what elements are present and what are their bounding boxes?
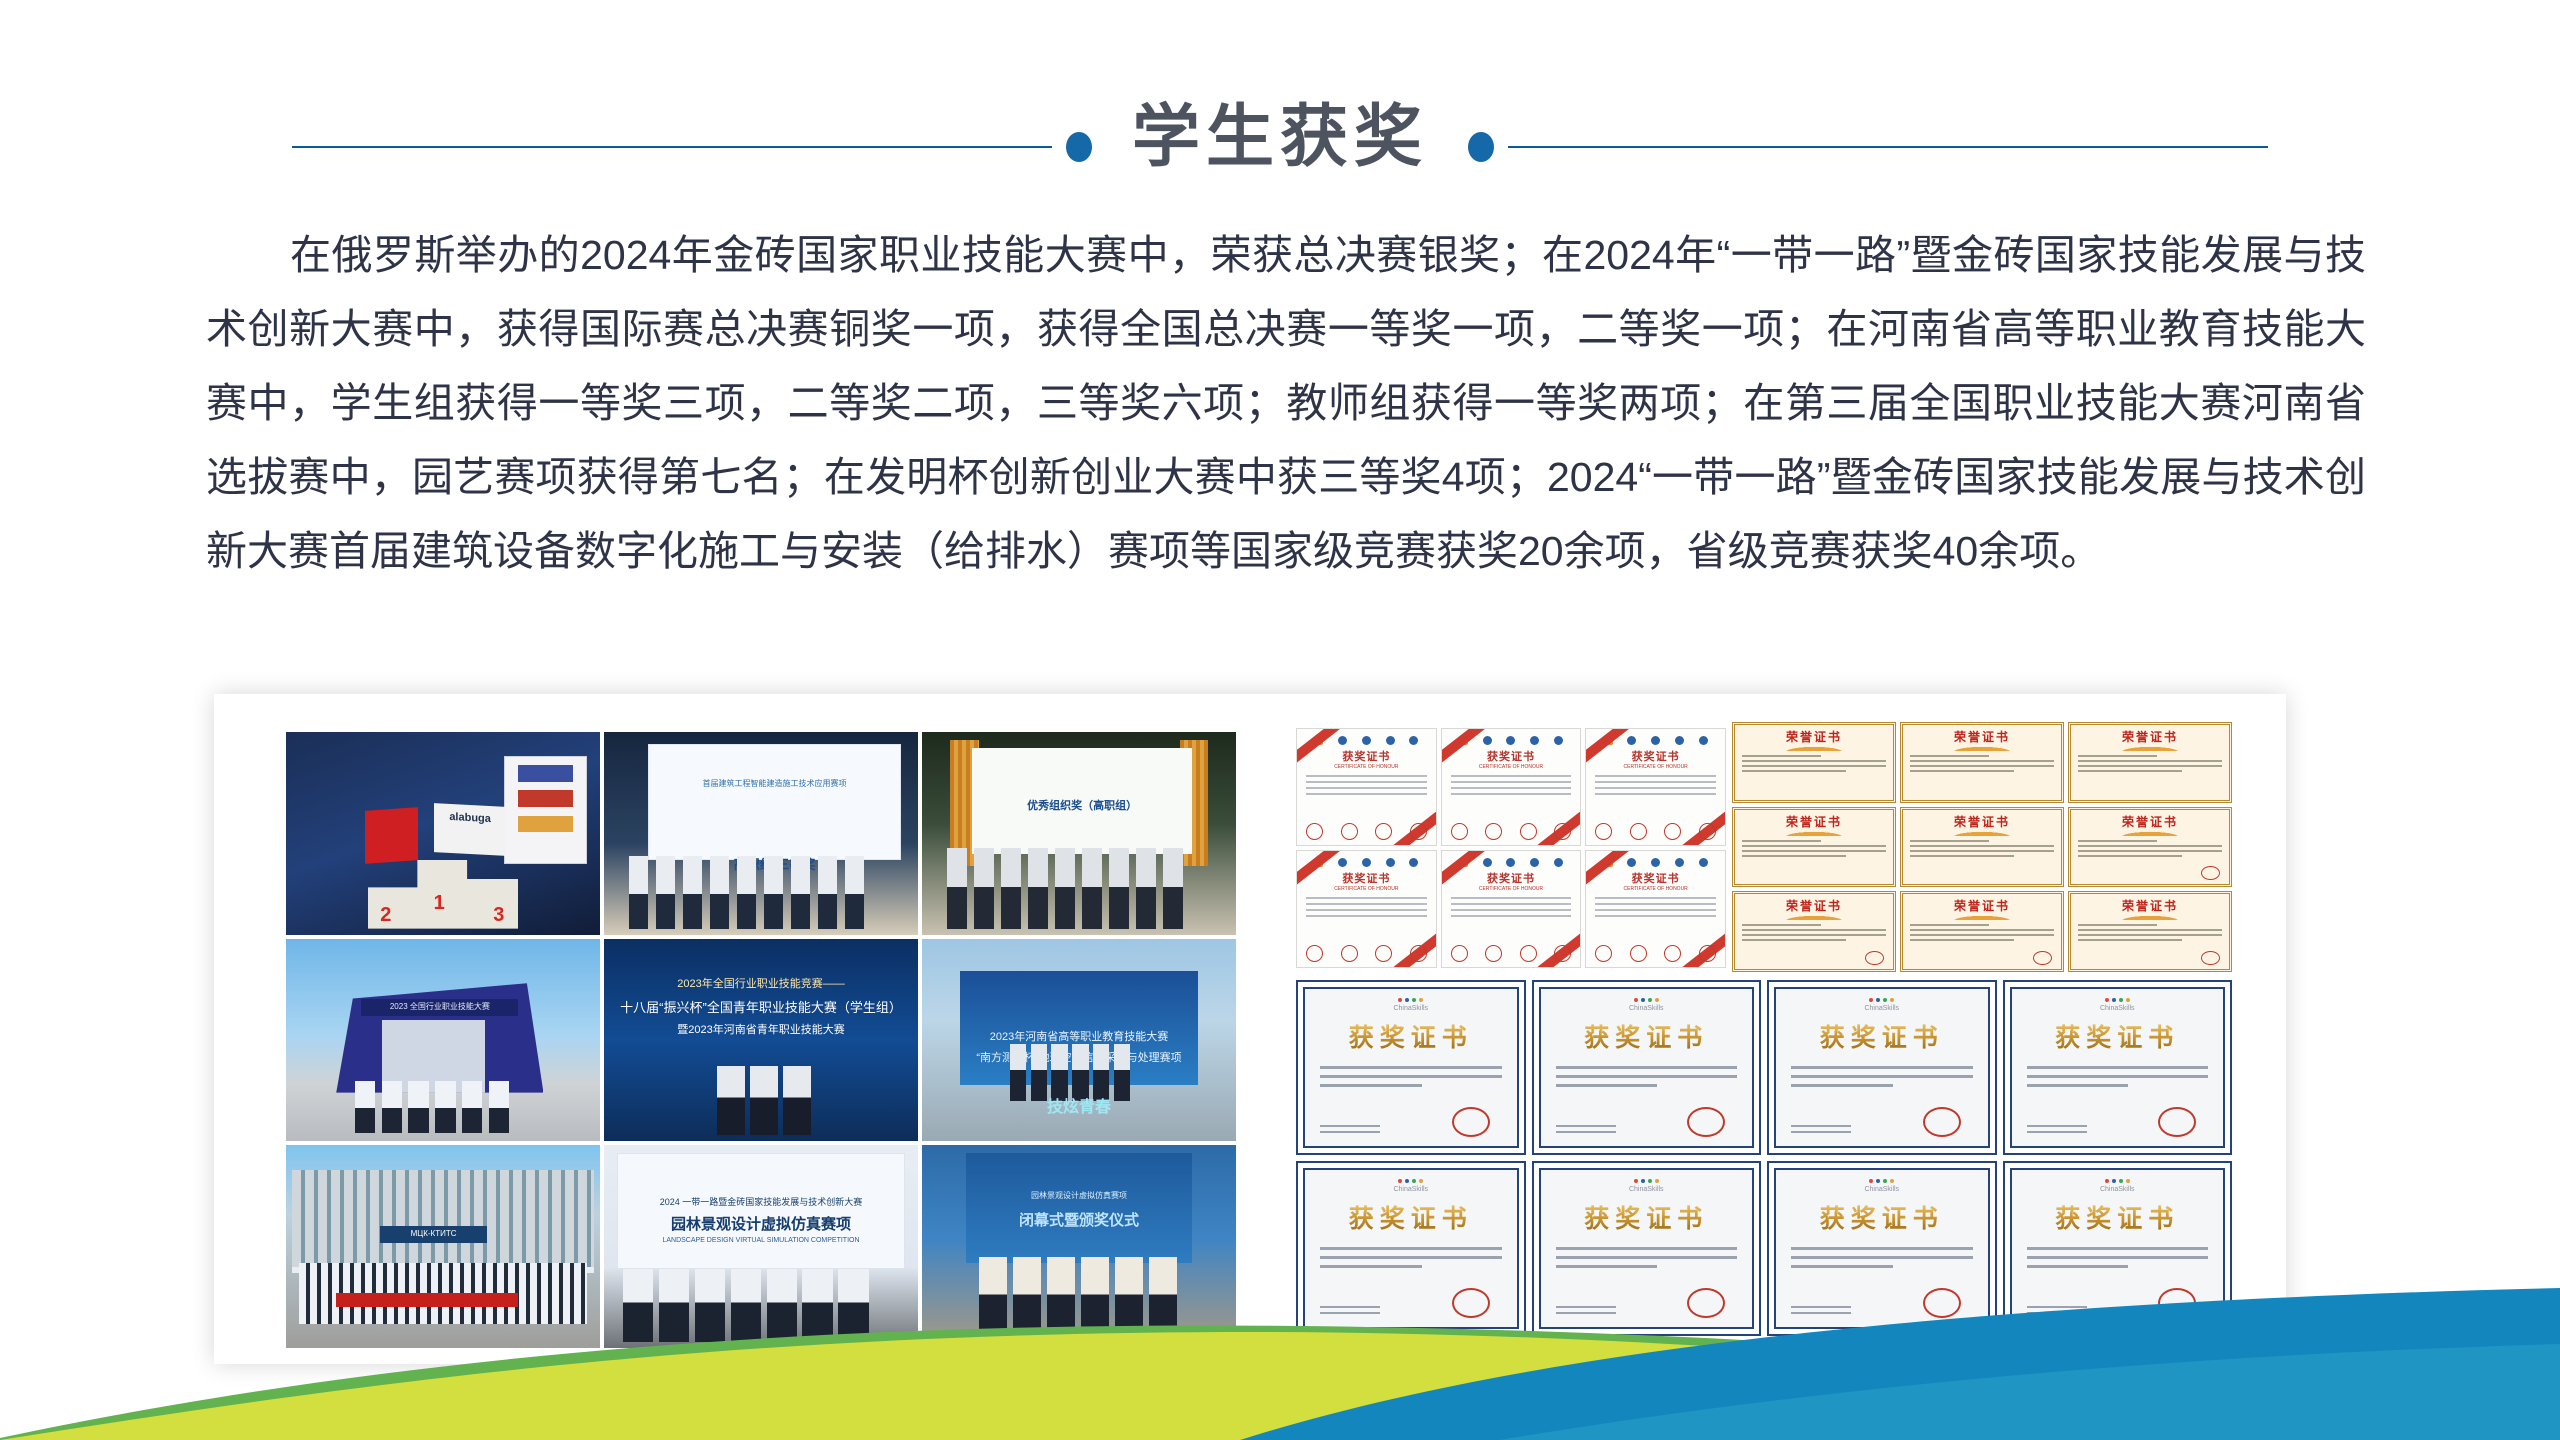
chinaskills-logo-icon: [1769, 1179, 1995, 1183]
certificate-title: 荣誉证书: [1735, 728, 1893, 745]
screen-icon: [504, 756, 588, 863]
certificate-subtitle: CERTIFICATE OF HONOUR: [1586, 764, 1725, 770]
certificate-title: 荣誉证书: [1735, 813, 1893, 830]
title-dot-right-icon: [1468, 132, 1494, 162]
ornament-icon: [1781, 831, 1847, 836]
chinaskills-logo-icon: [1298, 1179, 1524, 1183]
landscape-line-3: LANDSCAPE DESIGN VIRTUAL SIMULATION COMP…: [618, 1237, 905, 1244]
certificate-title: 获奖证书: [2005, 1018, 2231, 1054]
achievements-paragraph: 在俄罗斯举办的2024年金砖国家职业技能大赛中，荣获总决赛银奖；在2024年“一…: [206, 218, 2366, 588]
photo-venue-gate-group: 2023 全国行业职业技能大赛: [286, 939, 600, 1142]
certificate-card: 荣誉证书: [2068, 807, 2232, 888]
wave-svg: [0, 1270, 2560, 1440]
backdrop-line-3: 暨2023年河南省青年职业技能大赛: [617, 1021, 906, 1037]
certificate-card: 荣誉证书: [1732, 807, 1896, 888]
people-row: [947, 848, 1217, 929]
red-seal-icon: [1923, 1107, 1961, 1137]
certificate-title: 荣誉证书: [2071, 813, 2229, 830]
certificate-title: 获奖证书: [1298, 1199, 1524, 1235]
team-flag: alabuga: [434, 803, 506, 855]
certificate-card: 获奖证书 CERTIFICATE OF HONOUR: [1296, 850, 1437, 968]
photo-zhenxingbei-backdrop: 2023年全国行业职业技能竞赛—— 十八届“振兴杯”全国青年职业技能大赛（学生组…: [604, 939, 918, 1142]
ornament-icon: [1949, 746, 2015, 751]
title-rule-left: [292, 146, 1052, 148]
certificate-title: 获奖证书: [1586, 748, 1725, 764]
certificate-collage: 获奖证书 CERTIFICATE OF HONOUR 获奖证书 CERTIFIC…: [1292, 718, 2242, 1348]
ceremony-screen: 园林景观设计虚拟仿真赛项 闭幕式暨颁奖仪式: [966, 1153, 1192, 1262]
ornament-icon: [2117, 831, 2183, 836]
building-sign: МЦК-КТИТС: [380, 1226, 487, 1242]
ornament-icon: [1781, 915, 1847, 920]
ornament-icon: [1949, 831, 2015, 836]
certificate-card: ChinaSkills 获奖证书: [1296, 980, 1526, 1155]
people-row: [629, 856, 899, 929]
certificate-title: 荣誉证书: [1735, 897, 1893, 914]
certificate-title: 获奖证书: [1534, 1199, 1760, 1235]
ornament-icon: [1781, 746, 1847, 751]
certificate-subtitle: CERTIFICATE OF HONOUR: [1442, 886, 1581, 892]
podium-place-3: 3: [493, 904, 504, 927]
photo-stage-award-ceremony: 首届建筑工程智能建造施工技术应用赛项 高职组 三等奖: [604, 732, 918, 935]
china-flag-icon: [365, 807, 418, 863]
stage-slide-subtitle: 首届建筑工程智能建造施工技术应用赛项: [649, 778, 900, 789]
certificate-title: 荣誉证书: [2071, 897, 2229, 914]
certificate-brand: ChinaSkills: [1298, 1005, 1524, 1012]
backdrop-text: 2023年全国行业职业技能竞赛—— 十八届“振兴杯”全国青年职业技能大赛（学生组…: [617, 975, 906, 1037]
ceremony-line-1: 园林景观设计虚拟仿真赛项: [966, 1190, 1192, 1201]
backdrop-line-2: 十八届“振兴杯”全国青年职业技能大赛（学生组）: [617, 997, 906, 1016]
certificate-brand: ChinaSkills: [1298, 1186, 1524, 1193]
certificate-title: 获奖证书: [1442, 748, 1581, 764]
certificate-card: ChinaSkills 获奖证书: [1767, 980, 1997, 1155]
certificate-card: 获奖证书 CERTIFICATE OF HONOUR: [1296, 728, 1437, 846]
people-row: [717, 1066, 811, 1135]
red-seal-icon: [2158, 1107, 2196, 1137]
ornament-icon: [1949, 915, 2015, 920]
certificate-title: 荣誉证书: [1903, 897, 2061, 914]
certificate-card: 荣誉证书: [1900, 891, 2064, 972]
chinaskills-logo-icon: [1534, 1179, 1760, 1183]
honor-certificate-group: 荣誉证书 荣誉证书 荣誉证书 荣誉证书: [1732, 722, 2232, 972]
ornament-icon: [2117, 746, 2183, 751]
stage-slide: 首届建筑工程智能建造施工技术应用赛项 高职组 三等奖: [648, 744, 901, 859]
certificate-card: 荣誉证书: [2068, 722, 2232, 803]
ceremony-line-2: 闭幕式暨颁奖仪式: [966, 1209, 1192, 1230]
podium-place-2: 2: [380, 904, 391, 927]
certificate-title: 获奖证书: [1769, 1018, 1995, 1054]
red-seal-icon: [2201, 951, 2220, 965]
page-title: 学生获奖: [1106, 103, 1454, 171]
certificate-card: 荣誉证书: [1900, 807, 2064, 888]
organizer-slide-title: 优秀组织奖（高职组）: [972, 797, 1192, 813]
certificate-title: 获奖证书: [2005, 1199, 2231, 1235]
organizer-slide: 优秀组织奖（高职组）: [972, 748, 1192, 853]
landscape-banner: 2024 一带一路暨金砖国家技能发展与技术创新大赛 园林景观设计虚拟仿真赛项 L…: [617, 1153, 906, 1268]
photo-podium-award: alabuga 2 1 3: [286, 732, 600, 935]
certificate-brand: ChinaSkills: [2005, 1005, 2231, 1012]
certificate-subtitle: CERTIFICATE OF HONOUR: [1297, 764, 1436, 770]
red-seal-icon: [1687, 1107, 1725, 1137]
certificate-title: 获奖证书: [1298, 1018, 1524, 1054]
certificate-title: 获奖证书: [1297, 748, 1436, 764]
building-facade: [292, 1170, 593, 1273]
chinaskills-logo-icon: [2005, 1179, 2231, 1183]
certificate-subtitle: CERTIFICATE OF HONOUR: [1297, 886, 1436, 892]
red-seal-icon: [2201, 866, 2220, 880]
certificate-card: 荣誉证书: [1732, 891, 1896, 972]
certificate-brand: ChinaSkills: [2005, 1186, 2231, 1193]
chinaskills-logo-icon: [1298, 998, 1524, 1002]
red-seal-icon: [1865, 951, 1884, 965]
page-title-bar: 学生获奖: [0, 92, 2560, 202]
certificate-brand: ChinaSkills: [1534, 1186, 1760, 1193]
certificate-card: 获奖证书 CERTIFICATE OF HONOUR: [1585, 728, 1726, 846]
certificate-card: ChinaSkills 获奖证书: [2003, 980, 2233, 1155]
certificate-subtitle: CERTIFICATE OF HONOUR: [1442, 764, 1581, 770]
certificate-card: 获奖证书 CERTIFICATE OF HONOUR: [1441, 850, 1582, 968]
title-dot-left-icon: [1066, 132, 1092, 162]
chinaskills-logo-icon: [1769, 998, 1995, 1002]
chinaskills-logo-icon: [2005, 998, 2231, 1002]
podium-place-1: 1: [434, 892, 445, 915]
certificate-title: 获奖证书: [1586, 870, 1725, 886]
certificate-brand: ChinaSkills: [1769, 1005, 1995, 1012]
certificate-card: 获奖证书 CERTIFICATE OF HONOUR: [1585, 850, 1726, 968]
board-slogan: 技炫青春: [997, 1093, 1160, 1121]
backdrop-line-1: 2023年全国行业职业技能竞赛——: [617, 975, 906, 991]
certificate-card: 获奖证书 CERTIFICATE OF HONOUR: [1441, 728, 1582, 846]
landscape-line-2: 园林景观设计虚拟仿真赛项: [618, 1213, 905, 1234]
certificate-title: 获奖证书: [1534, 1018, 1760, 1054]
certificate-card: ChinaSkills 获奖证书: [1532, 980, 1762, 1155]
certificate-card: 荣誉证书: [1900, 722, 2064, 803]
chinaskills-logo-icon: [1534, 998, 1760, 1002]
red-seal-icon: [2033, 951, 2052, 965]
certificate-card: 荣誉证书: [1732, 722, 1896, 803]
certificate-title: 获奖证书: [1297, 870, 1436, 886]
certificate-title: 荣誉证书: [1903, 728, 2061, 745]
photo-surveying-competition: 2023年河南省高等职业教育技能大赛 “南方测绘杯”地理空间信息采集与处理赛项 …: [922, 939, 1236, 1142]
certificate-title: 荣誉证书: [2071, 728, 2229, 745]
certificate-subtitle: CERTIFICATE OF HONOUR: [1586, 886, 1725, 892]
people-row: [355, 1081, 512, 1134]
certificate-title: 获奖证书: [1769, 1199, 1995, 1235]
ornament-icon: [2117, 915, 2183, 920]
certificate-title: 荣誉证书: [1903, 813, 2061, 830]
certificate-brand: ChinaSkills: [1769, 1186, 1995, 1193]
red-seal-icon: [1452, 1107, 1490, 1137]
title-rule-right: [1508, 146, 2268, 148]
certificate-card: 荣誉证书: [2068, 891, 2232, 972]
landscape-line-1: 2024 一带一路暨金砖国家技能发展与技术创新大赛: [618, 1195, 905, 1208]
board-line-1: 2023年河南省高等职业教育技能大赛: [960, 1028, 1199, 1044]
photo-organizer-award: 优秀组织奖（高职组）: [922, 732, 1236, 935]
certificate-title: 获奖证书: [1442, 870, 1581, 886]
gate-banner-text: 2023 全国行业职业技能大赛: [361, 999, 518, 1015]
photo-grid: alabuga 2 1 3 首届建筑工程智能建造施工技术应用赛项 高职组 三等奖…: [286, 732, 1236, 1348]
brics-certificate-group: 获奖证书 CERTIFICATE OF HONOUR 获奖证书 CERTIFIC…: [1296, 728, 1726, 968]
certificate-brand: ChinaSkills: [1534, 1005, 1760, 1012]
media-card: alabuga 2 1 3 首届建筑工程智能建造施工技术应用赛项 高职组 三等奖…: [214, 694, 2286, 1364]
bottom-wave-decoration: [0, 1270, 2560, 1440]
